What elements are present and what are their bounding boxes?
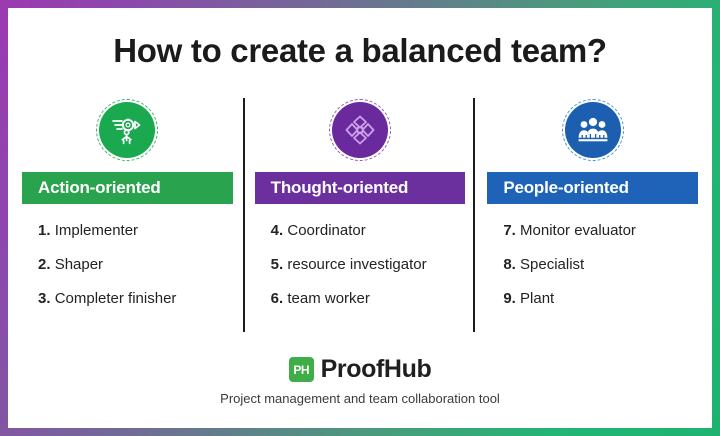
- people-group-icon: [565, 102, 621, 158]
- action-person-gear-icon: [99, 102, 155, 158]
- role-number: 8.: [503, 256, 516, 273]
- category-label-people: People-oriented: [503, 178, 628, 198]
- footer: PH ProofHub Project management and team …: [8, 355, 712, 406]
- role-name: Specialist: [520, 256, 584, 273]
- role-number: 2.: [38, 256, 51, 273]
- role-name: Completer finisher: [55, 290, 177, 307]
- role-list-action: 1. Implementer 2. Shaper 3. Completer fi…: [22, 222, 233, 324]
- role-list-thought: 4. Coordinator 5. resource investigator …: [255, 222, 466, 324]
- list-item: 2. Shaper: [38, 256, 233, 273]
- role-name: Implementer: [55, 222, 138, 239]
- role-name: Shaper: [55, 256, 103, 273]
- proofhub-logo-mark: PH: [289, 357, 314, 382]
- role-name: Plant: [520, 290, 554, 307]
- category-bar-people: People-oriented: [487, 172, 698, 204]
- proofhub-logo: PH ProofHub: [8, 355, 712, 384]
- role-number: 7.: [503, 222, 516, 239]
- proofhub-brand-name: ProofHub: [321, 355, 432, 384]
- action-icon-wrap: [99, 102, 155, 158]
- list-item: 5. resource investigator: [271, 256, 466, 273]
- category-column-people: People-oriented 7. Monitor evaluator 8. …: [473, 96, 712, 324]
- role-name: Coordinator: [287, 222, 365, 239]
- role-number: 5.: [271, 256, 284, 273]
- role-number: 1.: [38, 222, 51, 239]
- category-column-action: Action-oriented 1. Implementer 2. Shaper…: [8, 96, 241, 324]
- infographic-card: How to create a balanced team?: [0, 0, 720, 436]
- list-item: 4. Coordinator: [271, 222, 466, 239]
- role-number: 6.: [271, 290, 284, 307]
- thought-icon-wrap: [332, 102, 388, 158]
- list-item: 8. Specialist: [503, 256, 698, 273]
- infographic-canvas: How to create a balanced team?: [8, 8, 712, 428]
- page-title: How to create a balanced team?: [8, 32, 712, 70]
- role-list-people: 7. Monitor evaluator 8. Specialist 9. Pl…: [487, 222, 698, 324]
- role-name: team worker: [287, 290, 370, 307]
- role-number: 4.: [271, 222, 284, 239]
- list-item: 1. Implementer: [38, 222, 233, 239]
- list-item: 3. Completer finisher: [38, 290, 233, 307]
- role-name: resource investigator: [287, 256, 426, 273]
- category-columns: Action-oriented 1. Implementer 2. Shaper…: [8, 96, 712, 324]
- category-bar-action: Action-oriented: [22, 172, 233, 204]
- category-bar-thought: Thought-oriented: [255, 172, 466, 204]
- role-number: 3.: [38, 290, 51, 307]
- category-label-thought: Thought-oriented: [271, 178, 409, 198]
- people-icon-wrap: [565, 102, 621, 158]
- brand-tagline: Project management and team collaboratio…: [8, 391, 712, 406]
- category-label-action: Action-oriented: [38, 178, 161, 198]
- role-number: 9.: [503, 290, 516, 307]
- category-column-thought: Thought-oriented 4. Coordinator 5. resou…: [241, 96, 474, 324]
- list-item: 9. Plant: [503, 290, 698, 307]
- thought-network-nodes-icon: [332, 102, 388, 158]
- list-item: 6. team worker: [271, 290, 466, 307]
- role-name: Monitor evaluator: [520, 222, 636, 239]
- list-item: 7. Monitor evaluator: [503, 222, 698, 239]
